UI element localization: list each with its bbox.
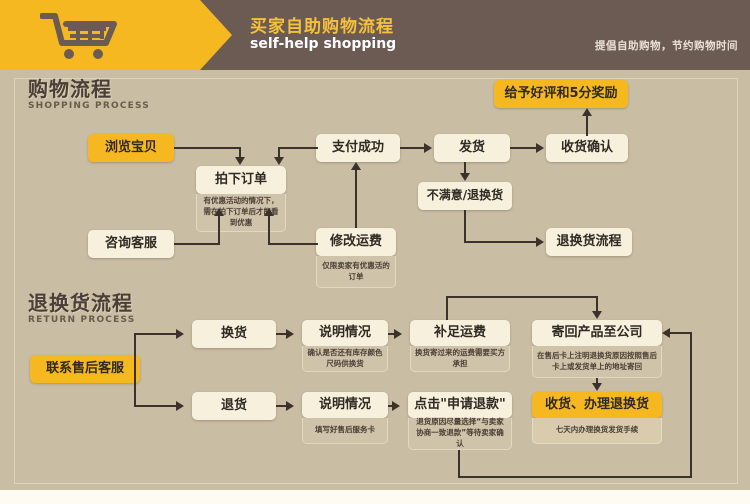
node-contact-service[interactable]: 咨询客服	[88, 230, 174, 258]
arrow-exchange-to-explain	[286, 329, 294, 339]
arrow-explain-to-payfreight	[394, 329, 402, 339]
arrow-dissat-to-returnflow	[536, 237, 544, 247]
arrow-contact-to-place-order	[214, 208, 224, 216]
node-refund[interactable]: 退货	[192, 392, 276, 420]
node-apply-refund[interactable]: 点击"申请退款"	[408, 392, 512, 418]
arrow-pay-to-ship	[424, 143, 432, 153]
arrow-sendback-to-receive	[592, 383, 602, 391]
header-title-cn: 买家自助购物流程	[250, 12, 394, 37]
node-explain-2[interactable]: 说明情况	[302, 392, 388, 418]
page-header: 买家自助购物流程 self-help shopping 提倡自助购物，节约购物时…	[0, 0, 750, 70]
connector-mf-h	[268, 243, 318, 245]
connector-ship-confirm	[510, 147, 538, 149]
connector-pf-over	[446, 296, 598, 298]
node-receive-process[interactable]: 收货、办理退换货	[532, 392, 662, 418]
node-confirm-receipt[interactable]: 收货确认	[546, 134, 628, 162]
connector-contact-v	[218, 216, 220, 244]
section-title-shopping: 购物流程 SHOPPING PROCESS	[28, 78, 150, 111]
shopping-cart-icon	[40, 12, 130, 60]
node-send-back[interactable]: 寄回产品至公司	[532, 320, 662, 346]
connector-confirm-reward	[586, 116, 588, 136]
section-title-shopping-cn: 购物流程	[28, 78, 150, 100]
node-browse[interactable]: 浏览宝贝	[88, 134, 174, 162]
node-dissatisfied[interactable]: 不满意/退换货	[418, 182, 512, 210]
section-title-return: 退换货流程 RETURN PROCESS	[28, 292, 135, 325]
node-explain-1[interactable]: 说明情况	[302, 320, 388, 346]
node-reward[interactable]: 给予好评和5分奖励	[494, 80, 628, 108]
connector-dissat-v	[464, 210, 466, 242]
connector-pay-h	[278, 147, 318, 149]
infographic-page: 买家自助购物流程 self-help shopping 提倡自助购物，节约购物时…	[0, 0, 750, 504]
content-panel: 购物流程 SHOPPING PROCESS 浏览宝贝 拍下订单 有优惠活动的情况…	[0, 70, 750, 490]
note-send-back: 在售后卡上注明退换货原因按照售后卡上或发货单上的地址寄回	[532, 346, 662, 378]
note-explain-1: 确认是否还有库存颜色尺码供换货	[302, 346, 388, 372]
arrow-browse-to-place-order	[235, 157, 245, 165]
connector-loop-down	[458, 450, 460, 478]
node-place-order[interactable]: 拍下订单	[196, 166, 286, 194]
arrow-explain-to-applyrefund	[392, 401, 400, 411]
arrow-ship-to-confirm	[536, 143, 544, 153]
connector-loop-right	[458, 476, 692, 478]
connector-dissat-h	[464, 241, 538, 243]
arrow-to-place-order-2	[274, 157, 284, 165]
connector-pf-down	[596, 296, 598, 312]
arrow-payfreight-to-sendback	[592, 311, 602, 319]
connector-mf-up	[355, 170, 357, 228]
arrow-ship-to-dissatisfied	[460, 173, 470, 181]
note-pay-freight: 换货寄过来的运费需要买方承担	[410, 346, 510, 372]
node-exchange[interactable]: 换货	[192, 320, 276, 348]
connector-pay-ship	[400, 147, 426, 149]
node-ship[interactable]: 发货	[434, 134, 510, 162]
note-apply-refund: 退货原因尽量选择“与卖家协商一致退款”等待卖家确认	[408, 418, 512, 450]
node-pay-freight[interactable]: 补足运费	[410, 320, 510, 346]
section-title-return-en: RETURN PROCESS	[28, 315, 135, 325]
node-modify-freight[interactable]: 修改运费	[316, 228, 396, 256]
node-contact-after-sale[interactable]: 联系售后客服	[30, 355, 140, 383]
note-modify-freight: 仅限卖家有优惠活的订单	[316, 256, 396, 288]
arrow-confirm-to-reward	[582, 108, 592, 116]
connector-loop-in	[670, 332, 692, 334]
arrow-loop-to-sendback	[662, 328, 670, 338]
connector-aftersale-trunk	[134, 334, 136, 406]
connector-loop-up	[690, 332, 692, 478]
node-return-flow[interactable]: 退换货流程	[546, 228, 632, 256]
connector-aftersale-bottom	[134, 405, 178, 407]
arrow-to-exchange	[176, 329, 184, 339]
header-note: 提倡自助购物，节约购物时间	[595, 38, 738, 53]
connector-mf-v	[268, 216, 270, 244]
connector-browse-h	[174, 147, 240, 149]
header-title-en: self-help shopping	[250, 36, 396, 52]
node-pay-success[interactable]: 支付成功	[316, 134, 400, 162]
note-explain-2: 填写好售后服务卡	[302, 418, 388, 444]
arrow-mf-to-place-order	[264, 208, 274, 216]
connector-contact-h	[174, 243, 220, 245]
section-title-shopping-en: SHOPPING PROCESS	[28, 101, 150, 111]
section-title-return-cn: 退换货流程	[28, 292, 135, 314]
note-receive-process: 七天内办理换货发货手续	[532, 418, 662, 444]
connector-aftersale-top	[134, 333, 178, 335]
arrow-refund-to-explain	[286, 401, 294, 411]
connector-pf-up	[446, 296, 448, 320]
arrow-mf-to-pay	[351, 162, 361, 170]
arrow-to-refund	[176, 401, 184, 411]
